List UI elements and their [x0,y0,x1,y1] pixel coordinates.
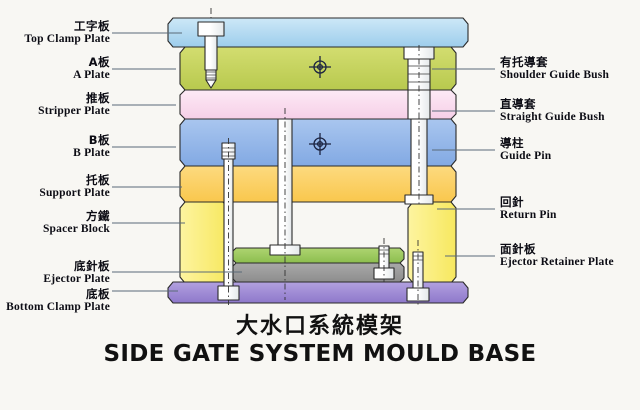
label-ejector-retainer-plate-en: Ejector Retainer Plate [500,256,614,269]
label-shoulder-guide-bush-cn: 有托導套 [500,56,609,69]
label-top-clamp-plate: 工字板 Top Clamp Plate [24,20,110,46]
label-spacer-block: 方鐵 Spacer Block [43,210,110,236]
label-guide-pin: 導柱 Guide Pin [500,137,551,163]
label-ejector-plate-cn: 底針板 [43,260,110,273]
socket-head-bolt-head [198,22,224,36]
label-return-pin-cn: 回針 [500,196,557,209]
title-chinese: 大水口系統模架 [0,314,640,340]
label-straight-guide-bush: 直導套 Straight Guide Bush [500,98,605,124]
label-stripper-plate: 推板 Stripper Plate [38,92,110,118]
label-top-clamp-plate-cn: 工字板 [24,20,110,33]
label-straight-guide-bush-cn: 直導套 [500,98,605,111]
label-b-plate: B板 B Plate [73,134,110,160]
label-guide-pin-cn: 導柱 [500,137,551,150]
label-straight-guide-bush-en: Straight Guide Bush [500,111,605,124]
label-return-pin: 回針 Return Pin [500,196,557,222]
label-ejector-retainer-plate-cn: 面針板 [500,243,614,256]
label-spacer-block-cn: 方鐵 [43,210,110,223]
label-bottom-clamp-plate-en: Bottom Clamp Plate [6,301,110,314]
label-a-plate-en: A Plate [73,69,110,82]
socket-head-bolt-shank [205,36,217,70]
label-guide-pin-en: Guide Pin [500,150,551,163]
label-ejector-plate-en: Ejector Plate [43,273,110,286]
mould-base-diagram: 工字板 Top Clamp Plate A板 A Plate 推板 Stripp… [0,0,640,410]
label-shoulder-guide-bush-en: Shoulder Guide Bush [500,69,609,82]
label-bottom-clamp-plate-cn: 底板 [6,288,110,301]
label-ejector-retainer-plate: 面針板 Ejector Retainer Plate [500,243,614,269]
label-stripper-plate-en: Stripper Plate [38,105,110,118]
label-top-clamp-plate-en: Top Clamp Plate [24,33,110,46]
label-support-plate-cn: 托板 [39,174,110,187]
label-shoulder-guide-bush: 有托導套 Shoulder Guide Bush [500,56,609,82]
label-a-plate: A板 A Plate [73,56,110,82]
label-support-plate-en: Support Plate [39,187,110,200]
label-b-plate-en: B Plate [73,147,110,160]
plate-ejector-retainer-plate [232,248,404,263]
diagram-title: 大水口系統模架 SIDE GATE SYSTEM MOULD BASE [0,314,640,368]
title-english: SIDE GATE SYSTEM MOULD BASE [0,340,640,368]
label-b-plate-cn: B板 [73,134,110,147]
label-bottom-clamp-plate: 底板 Bottom Clamp Plate [6,288,110,314]
label-stripper-plate-cn: 推板 [38,92,110,105]
plate-spacer-block-left [180,202,228,283]
label-a-plate-cn: A板 [73,56,110,69]
label-support-plate: 托板 Support Plate [39,174,110,200]
label-spacer-block-en: Spacer Block [43,223,110,236]
label-return-pin-en: Return Pin [500,209,557,222]
label-ejector-plate: 底針板 Ejector Plate [43,260,110,286]
